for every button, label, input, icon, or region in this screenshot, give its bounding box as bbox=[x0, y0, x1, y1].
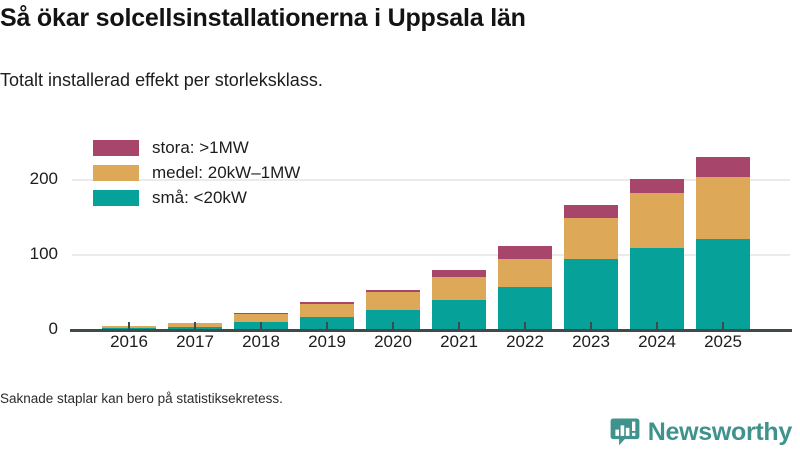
x-axis-label-2024: 2024 bbox=[622, 332, 692, 352]
bar-group-2025[interactable] bbox=[696, 157, 750, 330]
newsworthy-logo[interactable]: Newsworthy bbox=[610, 417, 792, 447]
page-subtitle: Totalt installerad effekt per storlekskl… bbox=[0, 70, 323, 91]
legend-item[interactable]: medel: 20kW–1MW bbox=[93, 160, 300, 185]
footnote: Saknade staplar kan bero på statistiksek… bbox=[0, 391, 283, 406]
x-axis-tick bbox=[524, 322, 526, 331]
bar-segment[interactable] bbox=[300, 302, 354, 304]
bar-segment[interactable] bbox=[234, 314, 288, 322]
legend-item[interactable]: små: <20kW bbox=[93, 185, 300, 210]
logo-wordmark: Newsworthy bbox=[648, 418, 792, 447]
x-axis-tick bbox=[128, 322, 130, 331]
bar-segment[interactable] bbox=[630, 193, 684, 248]
x-axis-tick bbox=[194, 322, 196, 331]
x-axis-tick bbox=[392, 322, 394, 331]
bar-segment[interactable] bbox=[234, 313, 288, 315]
bar-segment[interactable] bbox=[696, 239, 750, 330]
bar-segment[interactable] bbox=[498, 246, 552, 259]
bar-segment[interactable] bbox=[366, 292, 420, 310]
x-axis-tick bbox=[590, 322, 592, 331]
bar-group-2023[interactable] bbox=[564, 205, 618, 330]
x-axis-label-2018: 2018 bbox=[226, 332, 296, 352]
legend-item[interactable]: stora: >1MW bbox=[93, 135, 300, 160]
bar-segment[interactable] bbox=[696, 177, 750, 239]
bar-segment[interactable] bbox=[366, 290, 420, 292]
x-axis-label-2019: 2019 bbox=[292, 332, 362, 352]
x-axis-label-2021: 2021 bbox=[424, 332, 494, 352]
page-title: Så ökar solcellsinstallationerna i Uppsa… bbox=[0, 4, 526, 33]
x-axis-tick bbox=[326, 322, 328, 331]
legend-label: medel: 20kW–1MW bbox=[152, 163, 300, 183]
legend-label: små: <20kW bbox=[152, 188, 247, 208]
x-axis-label-2022: 2022 bbox=[490, 332, 560, 352]
bar-segment[interactable] bbox=[432, 270, 486, 277]
bar-segment[interactable] bbox=[564, 205, 618, 218]
legend-label: stora: >1MW bbox=[152, 138, 249, 158]
bar-segment[interactable] bbox=[630, 179, 684, 193]
bar-segment[interactable] bbox=[498, 259, 552, 288]
bar-segment[interactable] bbox=[564, 218, 618, 259]
x-axis-tick-marks bbox=[0, 322, 800, 332]
bar-segment[interactable] bbox=[696, 157, 750, 177]
x-axis-tick bbox=[722, 322, 724, 331]
x-axis-tick bbox=[260, 322, 262, 331]
bar-segment[interactable] bbox=[432, 277, 486, 300]
bar-segment[interactable] bbox=[300, 304, 354, 317]
x-axis-label-2023: 2023 bbox=[556, 332, 626, 352]
legend-swatch bbox=[93, 165, 139, 181]
bar-segment[interactable] bbox=[564, 259, 618, 330]
x-axis-tick bbox=[656, 322, 658, 331]
x-axis-label-2016: 2016 bbox=[94, 332, 164, 352]
x-axis-label-2025: 2025 bbox=[688, 332, 758, 352]
bar-group-2022[interactable] bbox=[498, 246, 552, 330]
bar-segment[interactable] bbox=[630, 248, 684, 331]
chart-legend: stora: >1MWmedel: 20kW–1MWsmå: <20kW bbox=[93, 135, 300, 210]
bar-chart-speech-bubble-icon bbox=[610, 417, 640, 447]
x-axis-label-2017: 2017 bbox=[160, 332, 230, 352]
legend-swatch bbox=[93, 190, 139, 206]
bar-group-2021[interactable] bbox=[432, 270, 486, 330]
chart-page: Så ökar solcellsinstallationerna i Uppsa… bbox=[0, 0, 800, 450]
legend-swatch bbox=[93, 140, 139, 156]
x-axis-label-2020: 2020 bbox=[358, 332, 428, 352]
bar-group-2024[interactable] bbox=[630, 179, 684, 330]
x-axis-tick bbox=[458, 322, 460, 331]
